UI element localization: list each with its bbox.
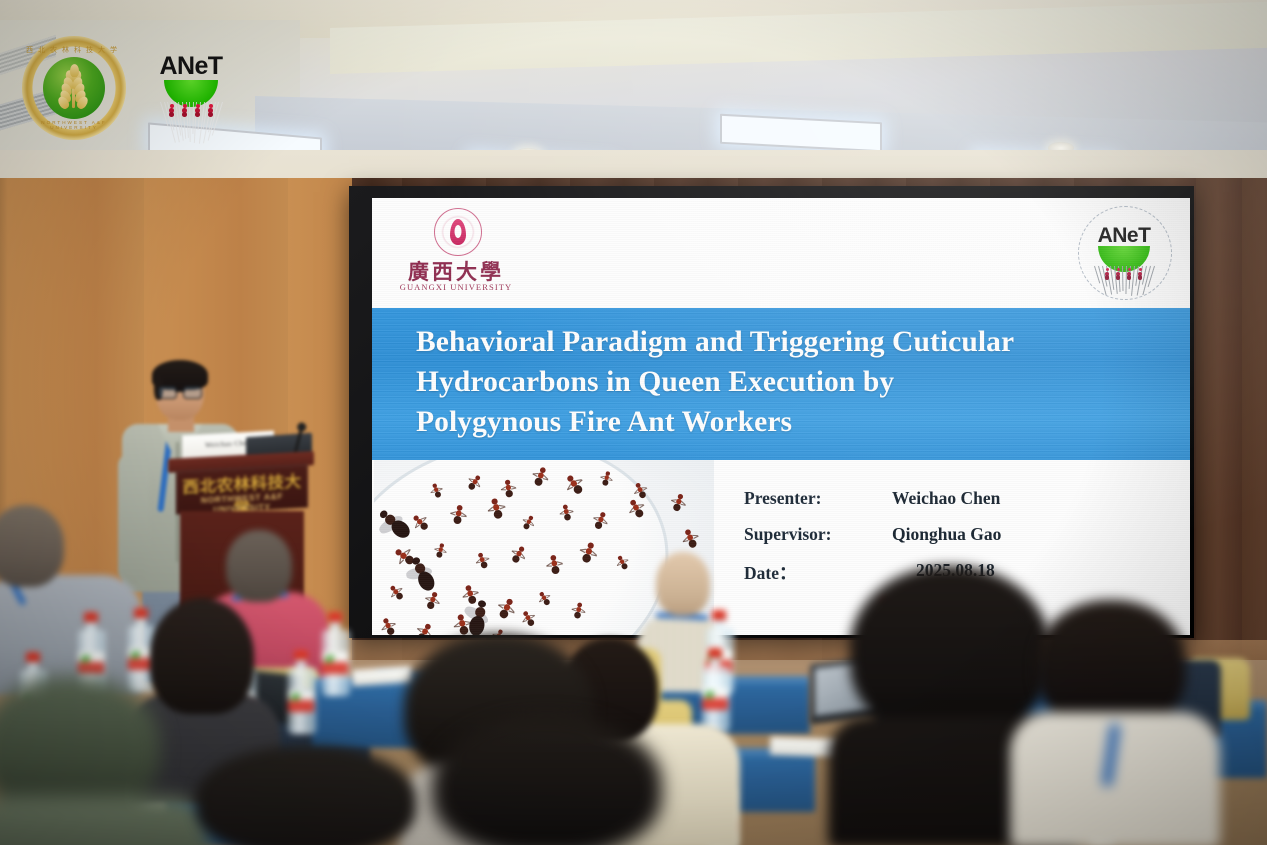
audience-head <box>432 716 662 845</box>
wheat-icon <box>61 66 87 108</box>
ant-icon <box>169 104 175 117</box>
presenter-value: Weichao Chen <box>892 488 1000 509</box>
conference-photo: 廣西大學 GUANGXI UNIVERSITY ANeT Behavioral … <box>0 0 1267 845</box>
anet-watermark-logo: ANeT <box>148 52 234 148</box>
anet-hair <box>189 102 191 142</box>
audience-member-foreground <box>432 716 662 845</box>
sprinkler-head-icon <box>397 125 410 145</box>
anet-ants-icon <box>1094 266 1154 300</box>
supervisor-value: Qionghua Gao <box>892 524 1001 545</box>
ant-icon <box>1105 268 1110 279</box>
ant-icon <box>208 104 214 117</box>
guangxi-university-logo: 廣西大學 GUANGXI UNIVERSITY <box>396 206 516 300</box>
audience-head <box>0 505 64 587</box>
audience-member-foreground <box>0 676 210 845</box>
audience-head <box>1036 600 1186 730</box>
anet-logo-text: ANeT <box>1076 224 1172 248</box>
ant-icon <box>1116 268 1121 279</box>
slide-header: 廣西大學 GUANGXI UNIVERSITY ANeT <box>372 198 1190 308</box>
water-bottle <box>322 612 348 694</box>
audience-head <box>226 530 292 602</box>
guangxi-logo-english: GUANGXI UNIVERSITY <box>396 282 516 292</box>
slide-title-line-3: Polygynous Fire Ant Workers <box>416 402 1146 442</box>
credit-row-presenter: Presenter: Weichao Chen <box>744 488 1174 524</box>
nwafu-logo-english: NORTHWEST A&F UNIVERSITY <box>22 120 126 130</box>
fire-ant <box>671 493 685 513</box>
slide-title: Behavioral Paradigm and Triggering Cutic… <box>416 322 1146 442</box>
ant-icon <box>182 104 188 117</box>
slide-title-line-2: Hydrocarbons in Queen Execution by <box>416 362 1146 402</box>
glasses-icon <box>158 386 202 397</box>
nwafu-logo-chinese: 西北农林科技大学 <box>22 45 126 55</box>
anet-watermark-text: ANeT <box>148 52 234 81</box>
audience-body <box>0 796 210 845</box>
fire-ant <box>682 528 698 549</box>
slide-title-line-1: Behavioral Paradigm and Triggering Cutic… <box>416 322 1146 362</box>
date-label: Date： <box>744 560 796 585</box>
supervisor-label: Supervisor: <box>744 524 832 545</box>
nwafu-disc-icon <box>43 57 105 119</box>
wheat-grain-icon <box>70 64 79 77</box>
water-bottle <box>288 650 314 732</box>
anet-hair <box>1122 266 1124 291</box>
audience-member-foreground <box>1010 600 1220 845</box>
ant-icon <box>195 104 201 117</box>
credit-row-supervisor: Supervisor: Qionghua Gao <box>744 524 1174 560</box>
presenter-label: Presenter: <box>744 488 821 509</box>
sprinkler-head-icon <box>157 32 170 52</box>
anet-hair <box>1131 266 1135 295</box>
ant-icon <box>1127 268 1132 279</box>
audience-head <box>0 676 160 816</box>
anet-ants-icon <box>160 102 222 148</box>
guangxi-seal-icon <box>434 208 482 256</box>
audience-member-foreground <box>196 746 416 845</box>
sprinkler-head-icon <box>1176 108 1189 128</box>
slide-title-band: Behavioral Paradigm and Triggering Cutic… <box>372 308 1190 460</box>
audience-head <box>656 552 710 616</box>
seal-flame-icon <box>450 219 466 245</box>
anet-logo-slide: ANeT <box>1076 204 1172 300</box>
nwafu-watermark-logo: 西北农林科技大学 NORTHWEST A&F UNIVERSITY <box>22 36 126 140</box>
audience-head <box>196 746 416 845</box>
ant-icon <box>1138 268 1143 279</box>
